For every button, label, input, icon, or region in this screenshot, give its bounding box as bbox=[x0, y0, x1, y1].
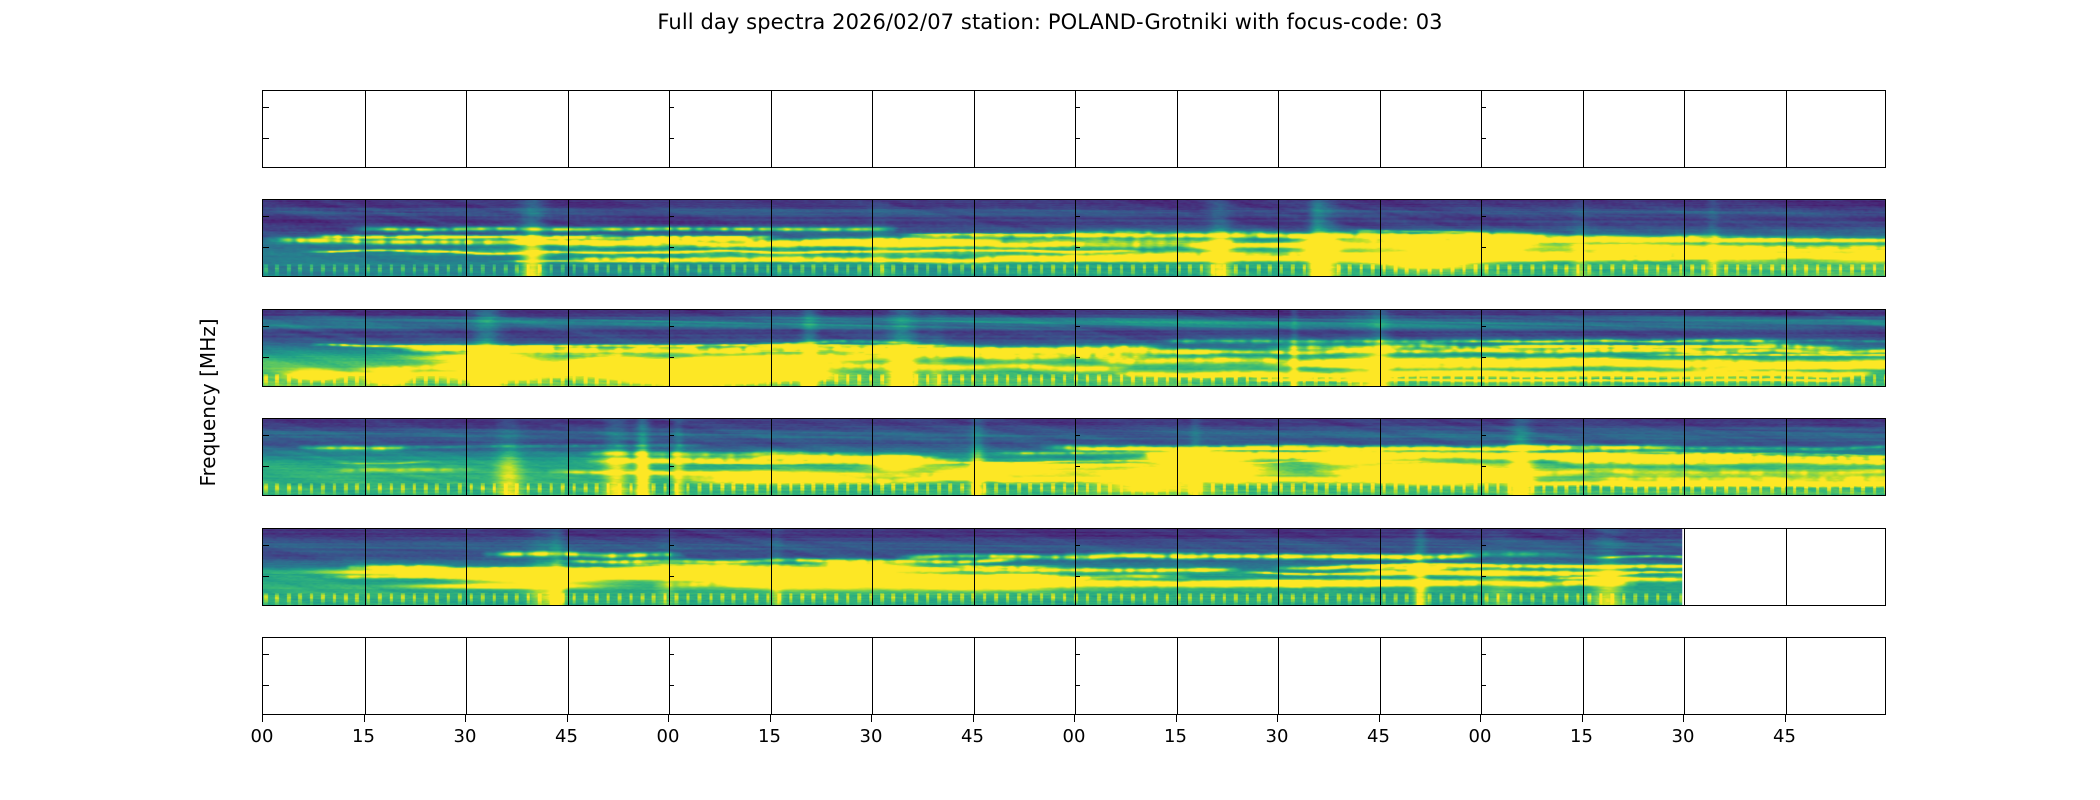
spectrogram-canvas bbox=[263, 419, 1885, 495]
x-tick-label: 00 bbox=[657, 726, 680, 747]
x-tick-mark bbox=[1582, 715, 1583, 722]
panel-separator bbox=[1177, 638, 1178, 714]
x-tick-label: 45 bbox=[1773, 726, 1796, 747]
x-tick-label: 00 bbox=[1063, 726, 1086, 747]
y-tick-mark-inner bbox=[1481, 685, 1486, 686]
y-axis-label: Frequency [MHz] bbox=[196, 90, 218, 715]
y-tick-mark bbox=[263, 654, 269, 655]
x-tick-mark bbox=[465, 715, 466, 722]
y-tick-mark bbox=[263, 138, 269, 139]
x-tick-mark bbox=[1683, 715, 1684, 722]
x-tick-label: 00 bbox=[251, 726, 274, 747]
x-axis: 00153045001530450015304500153045 bbox=[262, 715, 1886, 775]
x-tick-mark bbox=[770, 715, 771, 722]
panel-separator bbox=[1684, 91, 1685, 167]
panel-separator bbox=[1684, 638, 1685, 714]
spectrogram-row-04-07ut[interactable]: 204004-07UT bbox=[262, 199, 1886, 277]
panel-separator bbox=[1380, 91, 1381, 167]
spectrogram-row-16-19ut[interactable]: 204016-19UT bbox=[262, 528, 1886, 606]
panel-separator bbox=[466, 638, 467, 714]
x-tick-label: 45 bbox=[555, 726, 578, 747]
x-tick-label: 30 bbox=[454, 726, 477, 747]
x-tick-mark bbox=[973, 715, 974, 722]
panel-separator bbox=[365, 638, 366, 714]
panel-separator bbox=[1075, 91, 1076, 167]
panel-separator bbox=[669, 91, 670, 167]
y-tick-mark-inner bbox=[669, 138, 674, 139]
spectrogram-row-20-23ut[interactable]: 204020-23UT bbox=[262, 637, 1886, 715]
x-tick-label: 30 bbox=[860, 726, 883, 747]
y-tick-mark bbox=[263, 107, 269, 108]
panel-separator bbox=[1481, 638, 1482, 714]
y-tick-mark-inner bbox=[1075, 107, 1080, 108]
spectrogram-row-12-15ut[interactable]: 204012-15UT bbox=[262, 418, 1886, 496]
spectrogram-canvas bbox=[263, 529, 1885, 605]
x-tick-label: 15 bbox=[758, 726, 781, 747]
panel-separator bbox=[1481, 91, 1482, 167]
panel-separator bbox=[1380, 638, 1381, 714]
x-tick-mark bbox=[871, 715, 872, 722]
panel-separator bbox=[872, 91, 873, 167]
x-tick-mark bbox=[567, 715, 568, 722]
x-tick-label: 30 bbox=[1672, 726, 1695, 747]
x-tick-mark bbox=[262, 715, 263, 722]
panel-separator bbox=[1075, 638, 1076, 714]
x-tick-mark bbox=[668, 715, 669, 722]
x-tick-mark bbox=[1480, 715, 1481, 722]
panel-separator bbox=[1786, 91, 1787, 167]
panel-separator bbox=[466, 91, 467, 167]
spectrogram-row-00-03ut[interactable]: 204000-03UT bbox=[262, 90, 1886, 168]
panel-separator bbox=[1583, 638, 1584, 714]
panel-separator bbox=[568, 91, 569, 167]
x-tick-label: 15 bbox=[1570, 726, 1593, 747]
x-tick-label: 00 bbox=[1469, 726, 1492, 747]
panel-separator bbox=[1583, 91, 1584, 167]
y-tick-mark-inner bbox=[1481, 654, 1486, 655]
x-tick-mark bbox=[1277, 715, 1278, 722]
y-tick-mark-inner bbox=[1075, 138, 1080, 139]
x-tick-mark bbox=[1379, 715, 1380, 722]
x-tick-label: 15 bbox=[1164, 726, 1187, 747]
x-tick-label: 30 bbox=[1266, 726, 1289, 747]
y-tick-mark-inner bbox=[669, 685, 674, 686]
panel-separator bbox=[974, 91, 975, 167]
panel-separator bbox=[771, 638, 772, 714]
y-tick-mark-inner bbox=[1075, 654, 1080, 655]
panel-separator bbox=[1786, 638, 1787, 714]
panel-separator bbox=[974, 638, 975, 714]
spectrogram-canvas bbox=[263, 200, 1885, 276]
panel-separator bbox=[1278, 638, 1279, 714]
x-tick-mark bbox=[364, 715, 365, 722]
x-tick-mark bbox=[1176, 715, 1177, 722]
x-tick-mark bbox=[1785, 715, 1786, 722]
panel-separator bbox=[1278, 91, 1279, 167]
spectrogram-canvas bbox=[263, 310, 1885, 386]
x-tick-label: 45 bbox=[1367, 726, 1390, 747]
y-tick-mark-inner bbox=[1481, 107, 1486, 108]
panel-separator bbox=[771, 91, 772, 167]
x-tick-label: 15 bbox=[352, 726, 375, 747]
spectra-figure: Full day spectra 2026/02/07 station: POL… bbox=[0, 0, 2100, 800]
panel-separator bbox=[669, 638, 670, 714]
y-tick-mark-inner bbox=[1075, 685, 1080, 686]
y-tick-mark-inner bbox=[669, 654, 674, 655]
panel-separator bbox=[365, 91, 366, 167]
panel-separator bbox=[568, 638, 569, 714]
x-tick-label: 45 bbox=[961, 726, 984, 747]
y-tick-mark bbox=[263, 685, 269, 686]
y-tick-mark-inner bbox=[1481, 138, 1486, 139]
panel-separator bbox=[872, 638, 873, 714]
x-tick-mark bbox=[1074, 715, 1075, 722]
page-title: Full day spectra 2026/02/07 station: POL… bbox=[0, 10, 2100, 34]
spectrogram-row-08-11ut[interactable]: 204008-11UT bbox=[262, 309, 1886, 387]
axes-area: 204000-03UT204004-07UT204008-11UT204012-… bbox=[262, 90, 1886, 715]
y-tick-mark-inner bbox=[669, 107, 674, 108]
panel-separator bbox=[1177, 91, 1178, 167]
